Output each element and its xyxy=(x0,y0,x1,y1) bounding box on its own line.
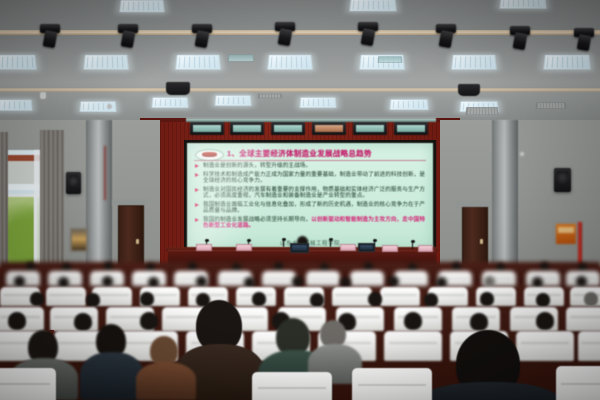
projection-screen-frame: 1、全球主要经济体制造业发展战略总趋势 制造业是创新的源头，转型升级的主战场。 … xyxy=(184,140,436,252)
slide-bullet: 科学技术和制造成产能力正成为国家力量的重要基础，制造业带动了前进的科技创新，是全… xyxy=(194,172,427,185)
track-spotlight xyxy=(121,30,136,48)
track-spotlight xyxy=(439,30,454,48)
ceiling-panel-light xyxy=(499,0,546,9)
ceiling-projector xyxy=(458,84,480,96)
attendee xyxy=(470,313,488,331)
ceiling-panel-light xyxy=(83,55,129,70)
slide-bullet: 制造业是创新的源头，转型升级的主战场。 xyxy=(194,163,427,169)
slide-bullet-text: 我国制造业面临工业化与信息化叠加，形成了新的历史机遇，制造业的核心竞争力在于产品… xyxy=(203,202,425,214)
chair-with-white-cover xyxy=(352,368,432,400)
slide-bullet-text: 科学技术和制造成产能力正成为国家力量的重要基础，制造业带动了前进的科技创新，是全… xyxy=(203,172,425,184)
smoke-detector xyxy=(40,92,46,99)
ceiling-panel-light xyxy=(543,55,591,70)
chair-with-white-cover xyxy=(0,368,56,400)
ceiling-vent xyxy=(536,102,567,108)
ceiling-panel-light xyxy=(152,97,189,107)
ceiling-panel-light xyxy=(451,55,497,70)
track-spotlight xyxy=(577,34,591,51)
attendee xyxy=(196,276,207,287)
truss-light xyxy=(353,122,387,135)
attendee xyxy=(536,293,550,307)
table-microphone xyxy=(330,240,331,247)
track-spotlight xyxy=(361,28,376,46)
ceiling-panel-light xyxy=(267,55,313,70)
name-placard xyxy=(196,244,212,251)
name-placard xyxy=(418,245,433,252)
attendee xyxy=(104,262,113,271)
slide-bullet: 我国的制造业发展战略必须坚持长期导向，以创新驱动和智能制造为主攻方向，走中国特色… xyxy=(194,217,427,230)
attendee xyxy=(8,312,26,330)
attendee xyxy=(140,312,158,330)
track-spotlight xyxy=(513,32,528,50)
conference-hall-photo: 1、全球主要经济体制造业发展战略总趋势 制造业是创新的源头，转型升级的主战场。 … xyxy=(0,0,600,400)
sensor-icon xyxy=(520,152,524,156)
attendee-torso xyxy=(136,362,196,400)
attendee xyxy=(424,293,438,307)
slide-title: 1、全球主要经济体制造业发展战略总趋势 xyxy=(227,148,427,159)
ceiling-vent xyxy=(258,94,282,99)
chair-with-white-cover xyxy=(566,307,600,331)
chair-with-white-cover xyxy=(384,331,442,361)
chair-with-white-cover xyxy=(516,331,574,361)
attendee xyxy=(14,276,25,287)
window-curtain xyxy=(0,132,8,272)
chair-with-white-cover xyxy=(578,331,600,361)
window-curtain xyxy=(40,130,64,272)
attendee xyxy=(540,262,549,271)
attendee xyxy=(86,293,100,307)
attendee xyxy=(30,292,44,306)
attendee xyxy=(26,262,35,271)
ceiling-panel-light xyxy=(300,97,337,107)
smoke-detector xyxy=(107,104,112,109)
attendee xyxy=(452,262,461,271)
chair-with-white-cover xyxy=(350,271,384,286)
attendee xyxy=(584,292,598,306)
chair-with-white-cover xyxy=(46,287,86,306)
attendee xyxy=(292,276,303,287)
side-door-right xyxy=(462,206,488,270)
slide-bullet-text: 制造业对国民经济的发展有着重要的支撑作用，物质基础和实体经济广泛的服务与生产方式… xyxy=(203,187,425,199)
truss-light xyxy=(312,122,346,135)
ceiling-vent xyxy=(228,55,255,62)
attendee xyxy=(74,313,92,331)
attendee-torso xyxy=(80,352,144,400)
name-placard xyxy=(340,244,356,251)
attendee xyxy=(368,292,382,306)
structural-column xyxy=(492,120,518,270)
attendee xyxy=(484,276,495,287)
stage-light-truss xyxy=(186,118,436,138)
track-spotlight xyxy=(195,30,210,48)
attendee xyxy=(404,312,422,330)
truss-light xyxy=(230,122,264,135)
wall-conduit xyxy=(104,146,106,200)
attendee xyxy=(576,276,587,287)
chair-with-white-cover xyxy=(306,271,340,286)
truss-light xyxy=(271,122,305,135)
chair-with-white-cover xyxy=(394,271,428,286)
structural-column xyxy=(86,120,112,270)
table-microphone xyxy=(283,240,284,247)
presenter-laptop xyxy=(290,243,309,253)
name-placard xyxy=(382,245,398,252)
ceiling-panel-light xyxy=(175,55,221,70)
chair-with-white-cover xyxy=(556,366,600,400)
ceiling-panel-light xyxy=(0,55,37,70)
slide-bullet: 我国制造业面临工业化与信息化叠加，形成了新的历史机遇，制造业的核心竞争力在于产品… xyxy=(194,202,427,215)
ceiling-panel-light xyxy=(0,100,33,111)
truss-light xyxy=(190,122,224,135)
attendee xyxy=(388,276,399,287)
slide-title-rule xyxy=(194,160,426,161)
name-placard xyxy=(236,244,252,251)
attendee xyxy=(140,292,154,306)
projection-screen: 1、全球主要经济体制造业发展战略总趋势 制造业是创新的源头，转型升级的主战场。 … xyxy=(187,143,433,249)
ceiling-panel-light xyxy=(349,0,396,11)
attendee xyxy=(252,292,266,306)
wall-speaker xyxy=(554,168,571,192)
attendee xyxy=(310,293,324,307)
attendee xyxy=(102,276,113,287)
ceiling-projector xyxy=(166,82,190,95)
attendee xyxy=(188,262,197,271)
ceiling-vent xyxy=(466,107,499,115)
table-laptop xyxy=(358,243,375,252)
chair-with-white-cover xyxy=(380,287,420,306)
attendee xyxy=(480,292,494,306)
chair-with-white-cover xyxy=(252,372,332,400)
ceiling-panel-light xyxy=(215,95,252,105)
slide-bullet-text: 制造业是创新的源头，转型升级的主战场。 xyxy=(203,163,311,169)
truss-light xyxy=(394,122,428,135)
fire-alarm-panel xyxy=(554,222,578,246)
chair-with-white-cover xyxy=(332,287,372,306)
slide-bullet: 制造业对国民经济的发展有着重要的支撑作用，物质基础和实体经济广泛的服务与生产方式… xyxy=(194,187,427,200)
wall-speaker xyxy=(66,172,81,194)
slide-bullet-text: 我国的制造业发展战略必须坚持长期导向， xyxy=(203,217,311,223)
track-spotlight xyxy=(43,30,58,48)
door-header xyxy=(112,200,146,205)
chair-with-white-cover xyxy=(262,271,296,286)
ceiling-panel-light xyxy=(389,99,428,109)
door-header xyxy=(456,202,490,207)
ceiling-panel-light xyxy=(119,0,164,12)
ceiling-vent xyxy=(378,56,402,62)
slide-body: 制造业是创新的源头，转型升级的主战场。 科学技术和制造成产能力正成为国家力量的重… xyxy=(194,163,427,236)
attendee xyxy=(274,262,283,271)
attendee xyxy=(364,262,373,271)
track-spotlight xyxy=(278,28,293,46)
table-microphone xyxy=(412,242,413,249)
wall-picture xyxy=(70,228,88,252)
attendee xyxy=(536,312,554,330)
